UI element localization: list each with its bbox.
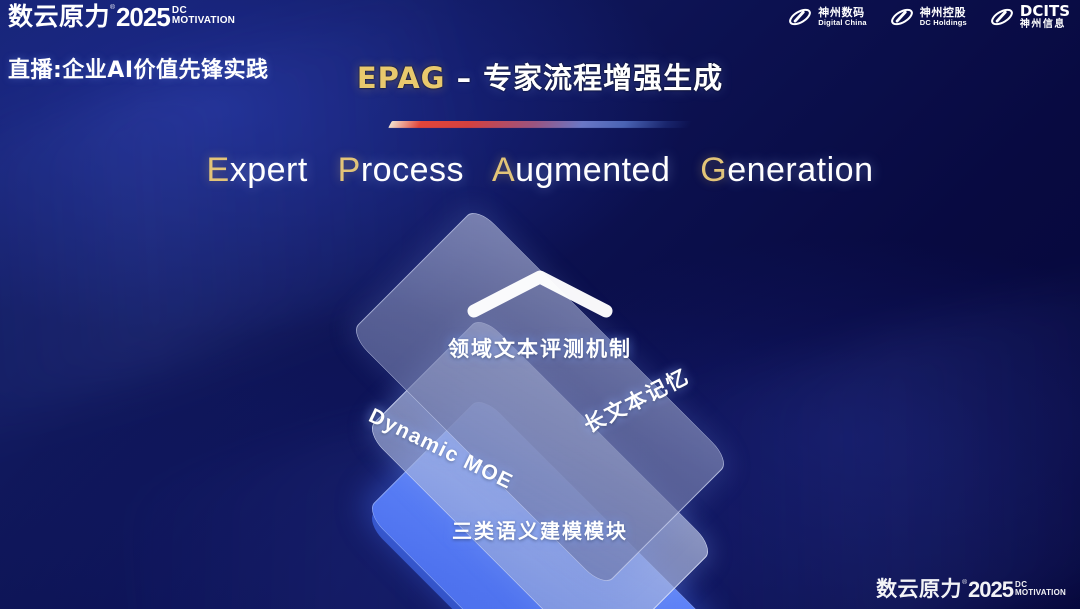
brand-year: 2025 [968,579,1013,601]
subtitle-cap-e: E [207,151,230,189]
title-divider [388,121,692,128]
subtitle-word-process: Process [338,151,464,189]
subtitle-rest-expert: xpert [230,151,308,189]
brand-name-cn: 数云原力 [876,579,962,600]
title-chinese: 专家流程增强生成 [483,61,723,95]
subtitle-word-expert: Expert [207,151,308,189]
title-separator: – [445,61,483,95]
registered-mark: ® [962,580,967,587]
chevron-up-icon [460,265,620,321]
subtitle-cap-p: P [338,151,361,189]
subtitle: Expert Process Augmented Generation [0,151,1080,190]
brand-tagline-line2: MOTIVATION [172,16,235,26]
layer-label-bottom: 三类语义建模模块 [0,515,1080,544]
subtitle-cap-g: G [700,151,727,189]
brand-name-cn: 数云原力 [8,4,110,29]
partner-name-en: Digital China [818,19,866,27]
brand-logo: 数云原力 ® 2025 DC MOTIVATION [8,4,235,30]
subtitle-space [680,151,690,189]
brand-watermark: 数云原力 ® 2025 DC MOTIVATION [876,579,1066,601]
partner-name-cn: 神州信息 [1020,20,1070,31]
brand-tagline-line2: MOTIVATION [1015,589,1066,597]
subtitle-cap-a: A [492,151,515,189]
brand-tagline: DC MOTIVATION [1015,581,1066,596]
partner-logo-dc-holdings: 神州控股 DC Holdings [889,4,967,30]
title-acronym: EPAG [357,61,446,95]
registered-mark: ® [110,5,115,12]
partner-logo-digital-china: 神州数码 Digital China [787,4,866,30]
subtitle-rest-augmented: ugmented [515,151,670,189]
partner-name-en: DC Holdings [920,19,967,27]
partner-label: DCITS 神州信息 [1020,4,1070,30]
partner-logo-dcits: DCITS 神州信息 [989,4,1070,30]
layer-label-top: 领域文本评测机制 [0,333,1080,363]
subtitle-space [474,151,484,189]
brand-year: 2025 [116,4,170,30]
swirl-icon [989,4,1015,30]
layered-stack-diagram: 领域文本评测机制 Dynamic MOE 长文本记忆 三类语义建模模块 [0,225,1080,575]
partner-logo-group: 神州数码 Digital China 神州控股 DC Holdings DCIT… [787,4,1070,30]
partner-name-latin: DCITS [1020,4,1070,20]
subtitle-space [318,151,328,189]
slide-canvas: 数云原力 ® 2025 DC MOTIVATION 直播:企业AI价值先锋实践 … [0,0,1080,609]
swirl-icon [889,4,915,30]
partner-label: 神州控股 DC Holdings [920,7,967,26]
subtitle-rest-process: rocess [361,151,464,189]
partner-label: 神州数码 Digital China [818,7,866,26]
swirl-icon [787,4,813,30]
subtitle-word-generation: Generation [700,151,873,189]
page-title: EPAG – 专家流程增强生成 [0,55,1080,97]
brand-tagline: DC MOTIVATION [172,6,235,25]
subtitle-word-augmented: Augmented [492,151,670,189]
subtitle-rest-generation: eneration [727,151,873,189]
